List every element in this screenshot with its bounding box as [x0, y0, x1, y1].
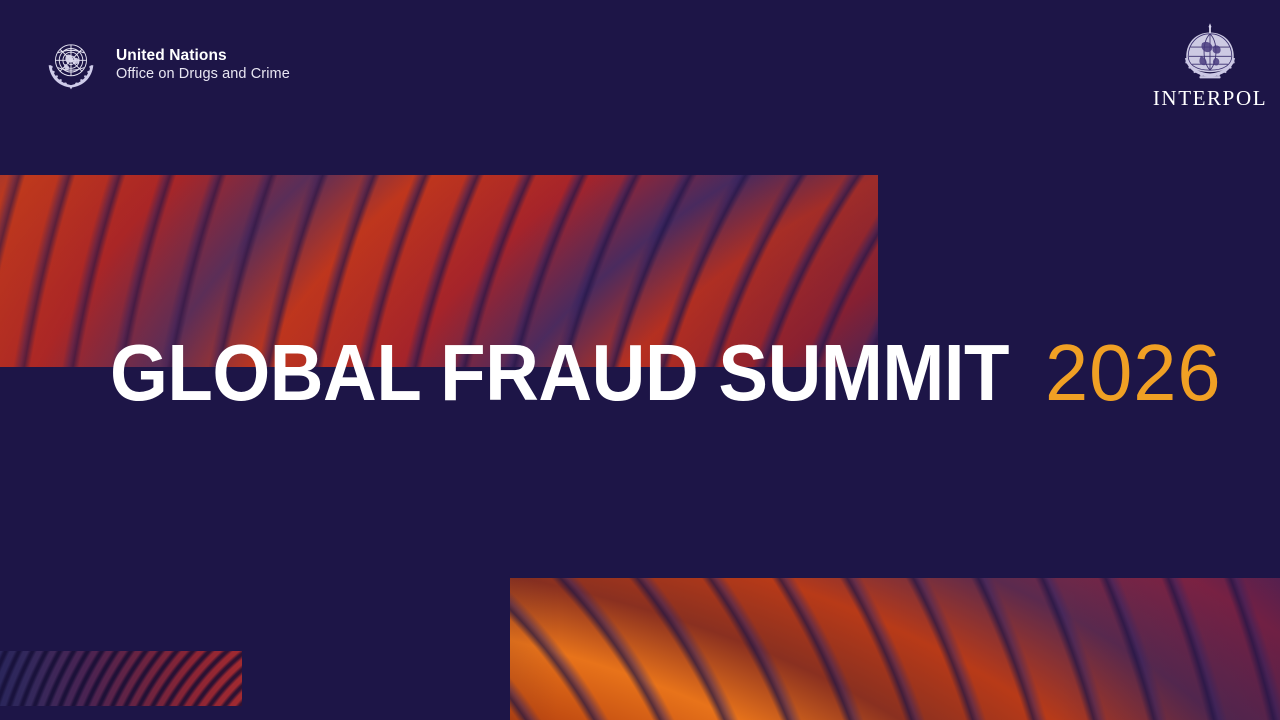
wave-band-bottom-decoration — [510, 578, 1280, 720]
hero-title-year: 2026 — [1045, 333, 1222, 413]
hero-title-main: GLOBAL FRAUD SUMMIT — [110, 333, 1009, 413]
hero-title: GLOBAL FRAUD SUMMIT2026 — [110, 333, 1227, 413]
unodc-line-2: Office on Drugs and Crime — [116, 66, 290, 83]
interpol-wordmark: INTERPOL — [1150, 86, 1270, 111]
interpol-emblem-icon — [1177, 18, 1243, 84]
wave-band-corner-shade — [0, 651, 242, 706]
interpol-logo-lockup: INTERPOL — [1150, 18, 1270, 111]
unodc-line-1: United Nations — [116, 47, 290, 65]
wave-band-bottom-shade — [510, 578, 1280, 720]
un-emblem-icon — [40, 33, 102, 95]
slide-canvas: United Nations Office on Drugs and Crime — [0, 0, 1280, 720]
unodc-wordmark: United Nations Office on Drugs and Crime — [116, 45, 290, 82]
unodc-logo-lockup: United Nations Office on Drugs and Crime — [40, 33, 290, 95]
wave-band-corner-decoration — [0, 651, 242, 706]
